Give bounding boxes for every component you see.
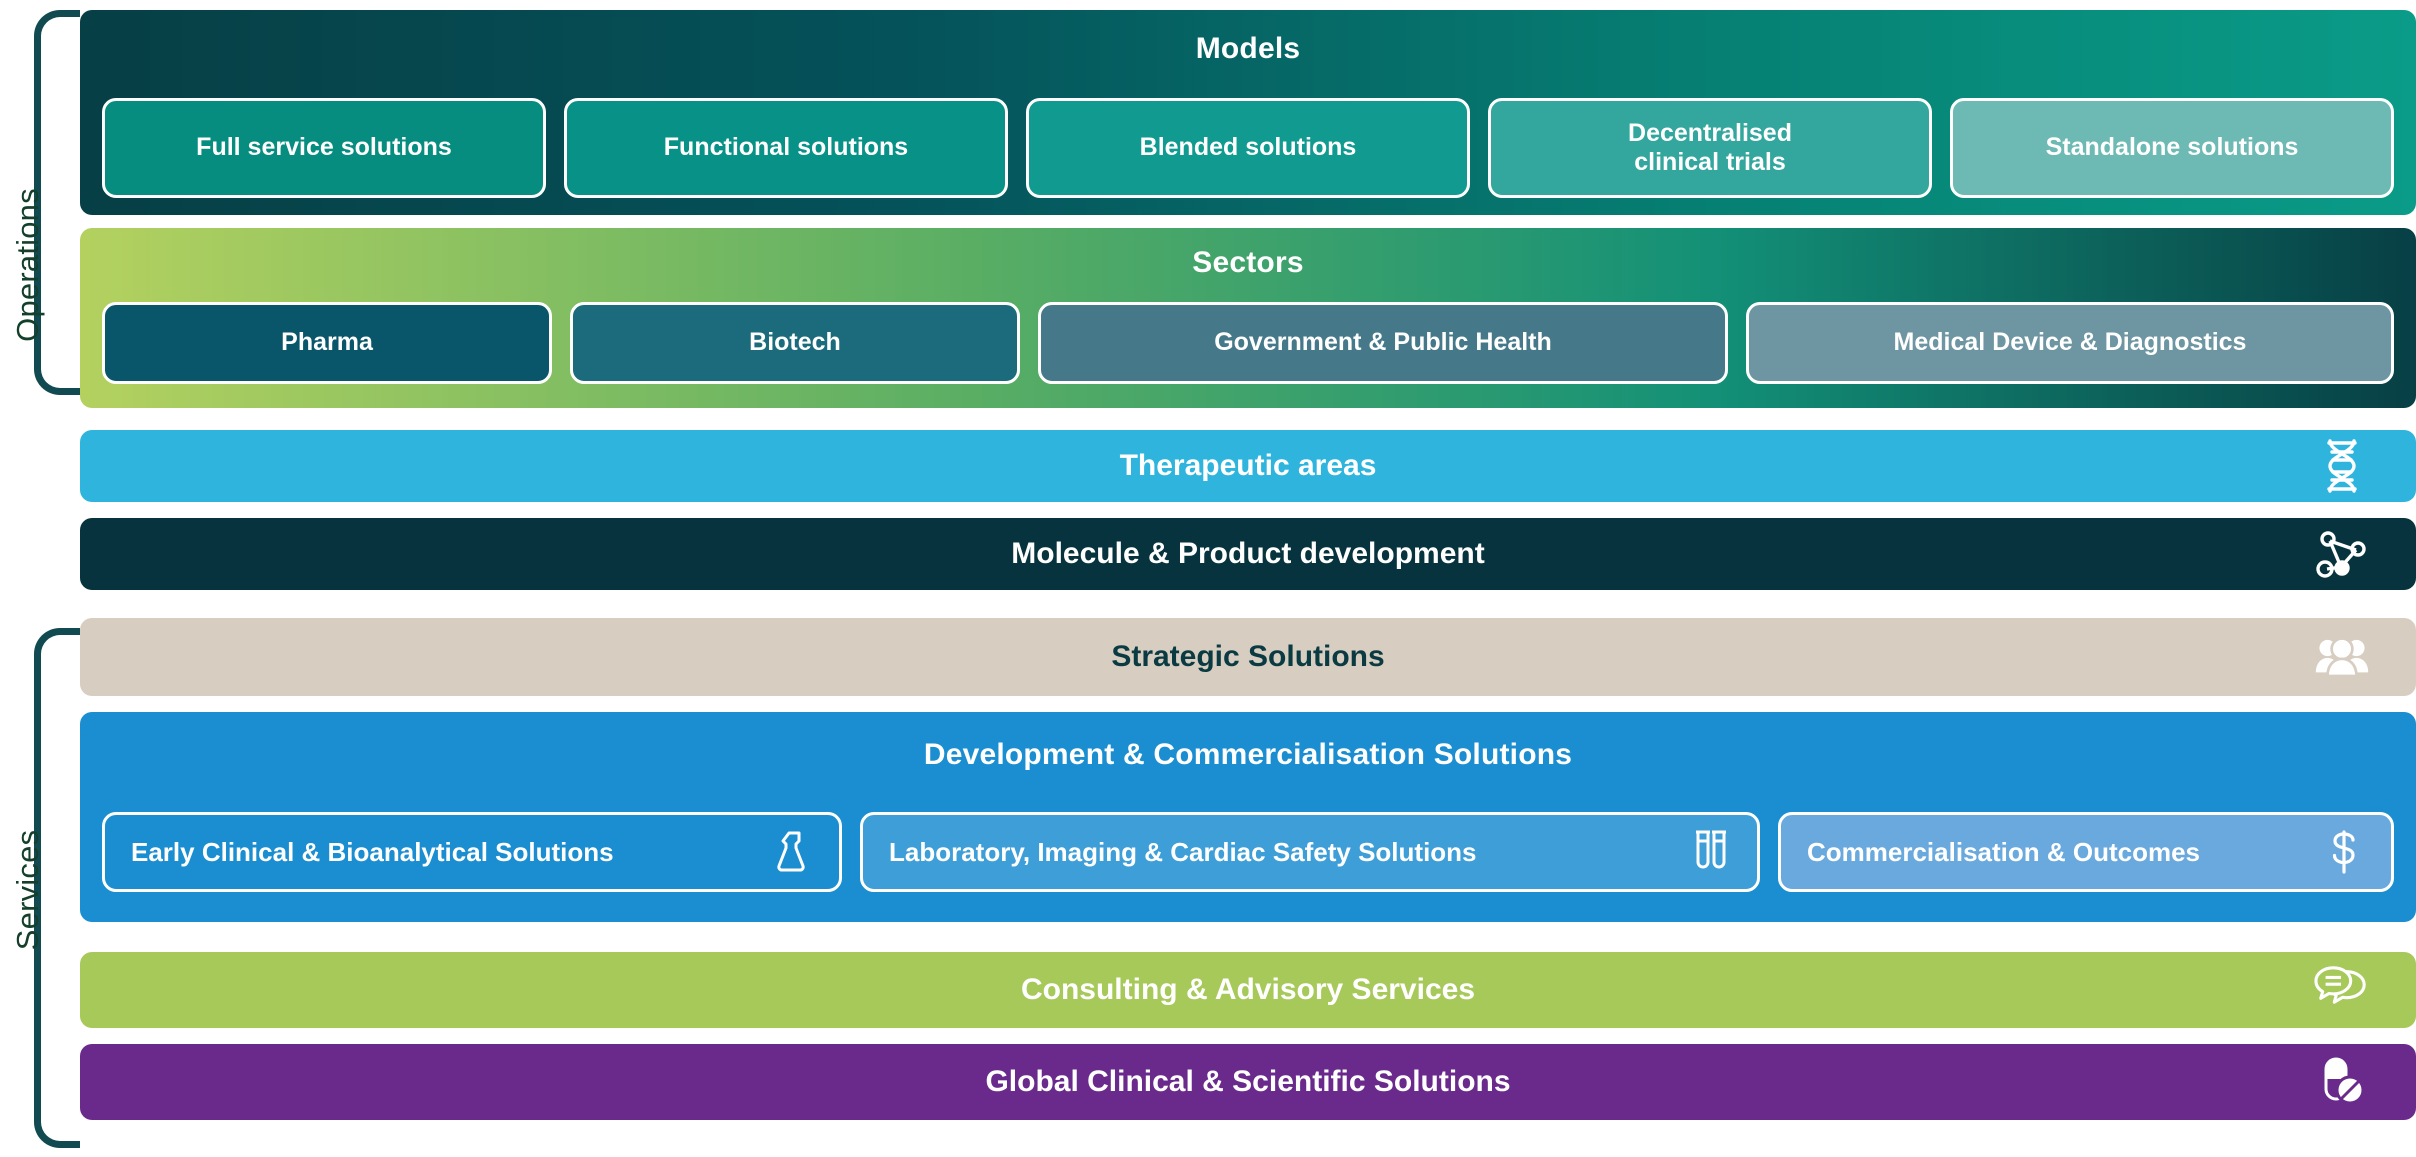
models-chip-standalone-label: Standalone solutions <box>2046 133 2299 163</box>
models-chip-standalone[interactable]: Standalone solutions <box>1950 98 2394 198</box>
dollar-sign-icon <box>2321 829 2367 875</box>
subchip-early-clinical-label: Early Clinical & Bioanalytical Solutions <box>131 837 614 868</box>
group-label-services-text: Services <box>10 830 46 950</box>
subchip-laboratory-imaging-label: Laboratory, Imaging & Cardiac Safety Sol… <box>889 837 1477 868</box>
global-clinical-label: Global Clinical & Scientific Solutions <box>985 1065 1510 1099</box>
sectors-chip-medical-device[interactable]: Medical Device & Diagnostics <box>1746 302 2394 384</box>
molecule-node-icon <box>2314 526 2370 582</box>
models-chip-functional-label: Functional solutions <box>664 133 908 163</box>
capability-framework-diagram: Operations Services Models Full service … <box>0 0 2416 1157</box>
dna-icon <box>2314 438 2370 494</box>
sectors-title: Sectors <box>80 246 2416 280</box>
models-chip-blended-label: Blended solutions <box>1140 133 1357 163</box>
therapeutic-areas-label: Therapeutic areas <box>1120 449 1377 483</box>
models-chip-full-service[interactable]: Full service solutions <box>102 98 546 198</box>
people-group-icon <box>2314 629 2370 685</box>
group-label-operations-text: Operations <box>10 188 46 342</box>
strategic-solutions-row[interactable]: Strategic Solutions <box>80 618 2416 696</box>
subchip-laboratory-imaging[interactable]: Laboratory, Imaging & Cardiac Safety Sol… <box>860 812 1760 892</box>
subchip-commercialisation-outcomes[interactable]: Commercialisation & Outcomes <box>1778 812 2394 892</box>
consulting-advisory-label: Consulting & Advisory Services <box>1021 973 1475 1007</box>
sectors-chip-government-label: Government & Public Health <box>1214 328 1552 358</box>
group-label-operations: Operations <box>0 150 56 380</box>
therapeutic-areas-row[interactable]: Therapeutic areas <box>80 430 2416 502</box>
group-label-services: Services <box>0 790 56 990</box>
speech-bubbles-icon <box>2314 962 2370 1018</box>
flask-icon <box>769 829 815 875</box>
consulting-advisory-row[interactable]: Consulting & Advisory Services <box>80 952 2416 1028</box>
strategic-solutions-label: Strategic Solutions <box>1111 640 1384 674</box>
pill-capsule-icon <box>2314 1054 2370 1110</box>
models-chip-decentralised[interactable]: Decentralisedclinical trials <box>1488 98 1932 198</box>
development-commercialisation-row: Development & Commercialisation Solution… <box>80 712 2416 922</box>
test-tubes-icon <box>1687 829 1733 875</box>
sectors-chip-biotech-label: Biotech <box>749 328 841 358</box>
sectors-chip-biotech[interactable]: Biotech <box>570 302 1020 384</box>
sectors-chip-pharma-label: Pharma <box>281 328 373 358</box>
models-chip-blended[interactable]: Blended solutions <box>1026 98 1470 198</box>
sectors-row: Sectors Pharma Biotech Government & Publ… <box>80 228 2416 408</box>
subchip-early-clinical[interactable]: Early Clinical & Bioanalytical Solutions <box>102 812 842 892</box>
models-row: Models Full service solutions Functional… <box>80 10 2416 215</box>
models-title: Models <box>80 32 2416 66</box>
global-clinical-row[interactable]: Global Clinical & Scientific Solutions <box>80 1044 2416 1120</box>
sectors-chip-pharma[interactable]: Pharma <box>102 302 552 384</box>
subchip-commercialisation-outcomes-label: Commercialisation & Outcomes <box>1807 837 2200 868</box>
models-chip-decentralised-label: Decentralisedclinical trials <box>1628 119 1792 178</box>
sectors-chip-list: Pharma Biotech Government & Public Healt… <box>102 302 2394 384</box>
models-chip-functional[interactable]: Functional solutions <box>564 98 1008 198</box>
development-subchip-list: Early Clinical & Bioanalytical Solutions… <box>102 812 2394 892</box>
development-commercialisation-title: Development & Commercialisation Solution… <box>80 738 2416 772</box>
sectors-chip-medical-device-label: Medical Device & Diagnostics <box>1894 328 2247 358</box>
molecule-product-row[interactable]: Molecule & Product development <box>80 518 2416 590</box>
models-chip-list: Full service solutions Functional soluti… <box>102 98 2394 198</box>
sectors-chip-government[interactable]: Government & Public Health <box>1038 302 1728 384</box>
molecule-product-label: Molecule & Product development <box>1011 537 1484 571</box>
models-chip-full-service-label: Full service solutions <box>196 133 452 163</box>
